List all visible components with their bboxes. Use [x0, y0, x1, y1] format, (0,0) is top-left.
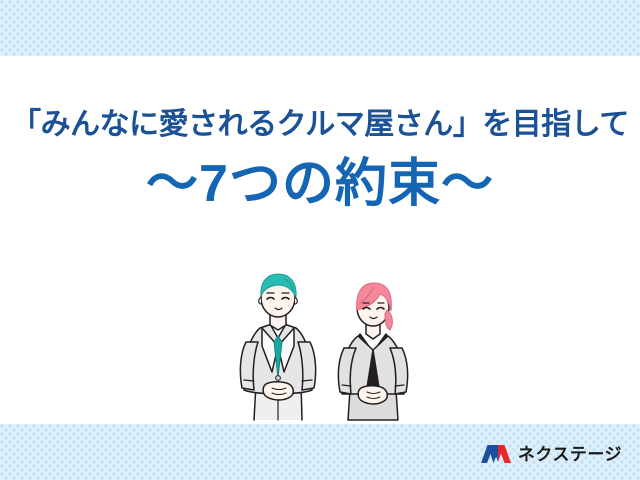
nextage-logo[interactable]: ネクステージ: [481, 440, 622, 468]
nextage-wordmark: ネクステージ: [518, 446, 622, 463]
male-staff-figure: [240, 274, 315, 420]
top-dotted-strip: [0, 0, 640, 56]
promotional-banner: 「みんなに愛されるクルマ屋さん」を目指して 〜7つの約束〜: [0, 0, 640, 480]
nextage-n-mark-icon: [481, 443, 511, 465]
headline-primary: 「みんなに愛されるクルマ屋さん」を目指して: [0, 108, 640, 143]
headline-secondary: 〜7つの約束〜: [0, 155, 640, 213]
staff-illustration-svg: [232, 268, 418, 428]
headline-block: 「みんなに愛されるクルマ屋さん」を目指して 〜7つの約束〜: [0, 108, 640, 213]
female-staff-figure: [338, 283, 407, 420]
staff-illustration: [232, 268, 418, 428]
